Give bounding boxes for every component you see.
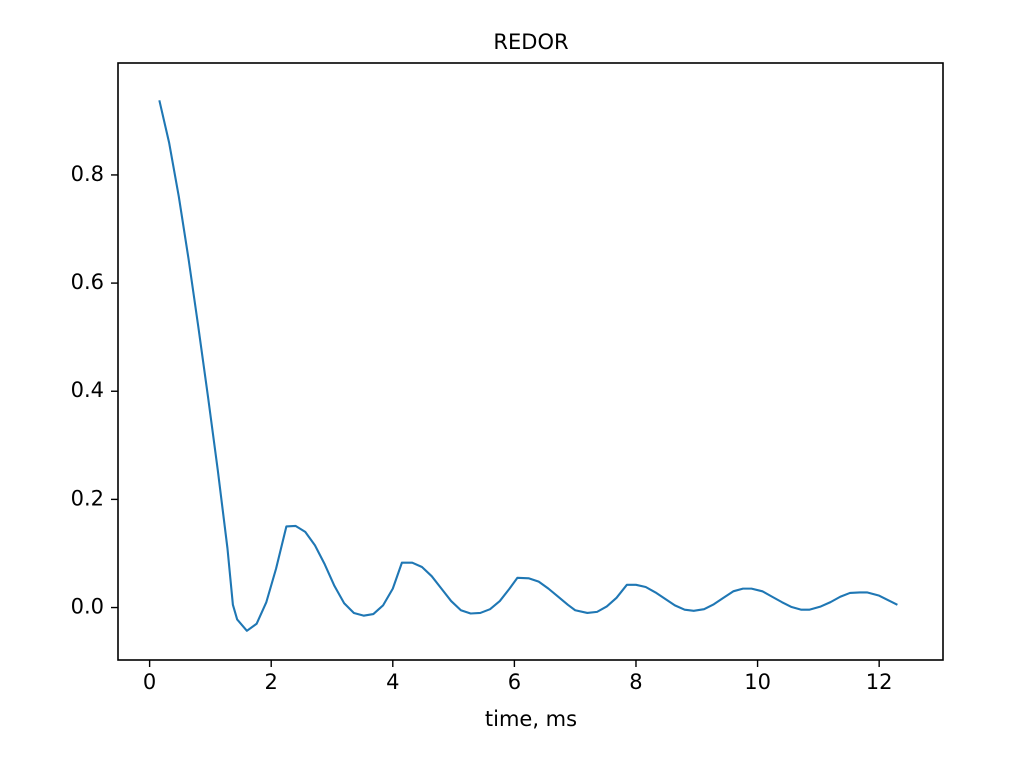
chart-title: REDOR: [493, 30, 568, 54]
x-tick-label: 12: [866, 670, 893, 694]
x-tick-label: 0: [143, 670, 156, 694]
x-tick-label: 6: [508, 670, 521, 694]
y-tick-label: 0.2: [71, 486, 104, 510]
figure-background: [0, 0, 1024, 768]
figure-canvas: REDOR 024681012 0.00.20.40.60.8 time, ms: [0, 0, 1024, 768]
x-tick-label: 4: [386, 670, 399, 694]
y-tick-label: 0.4: [71, 378, 104, 402]
x-tick-label: 10: [744, 670, 771, 694]
y-tick-label: 0.0: [71, 595, 104, 619]
x-axis-label: time, ms: [485, 707, 577, 731]
y-tick-label: 0.8: [71, 162, 104, 186]
x-tick-label: 8: [629, 670, 642, 694]
redor-chart: REDOR 024681012 0.00.20.40.60.8 time, ms: [0, 0, 1024, 768]
y-tick-label: 0.6: [71, 270, 104, 294]
x-tick-label: 2: [265, 670, 278, 694]
